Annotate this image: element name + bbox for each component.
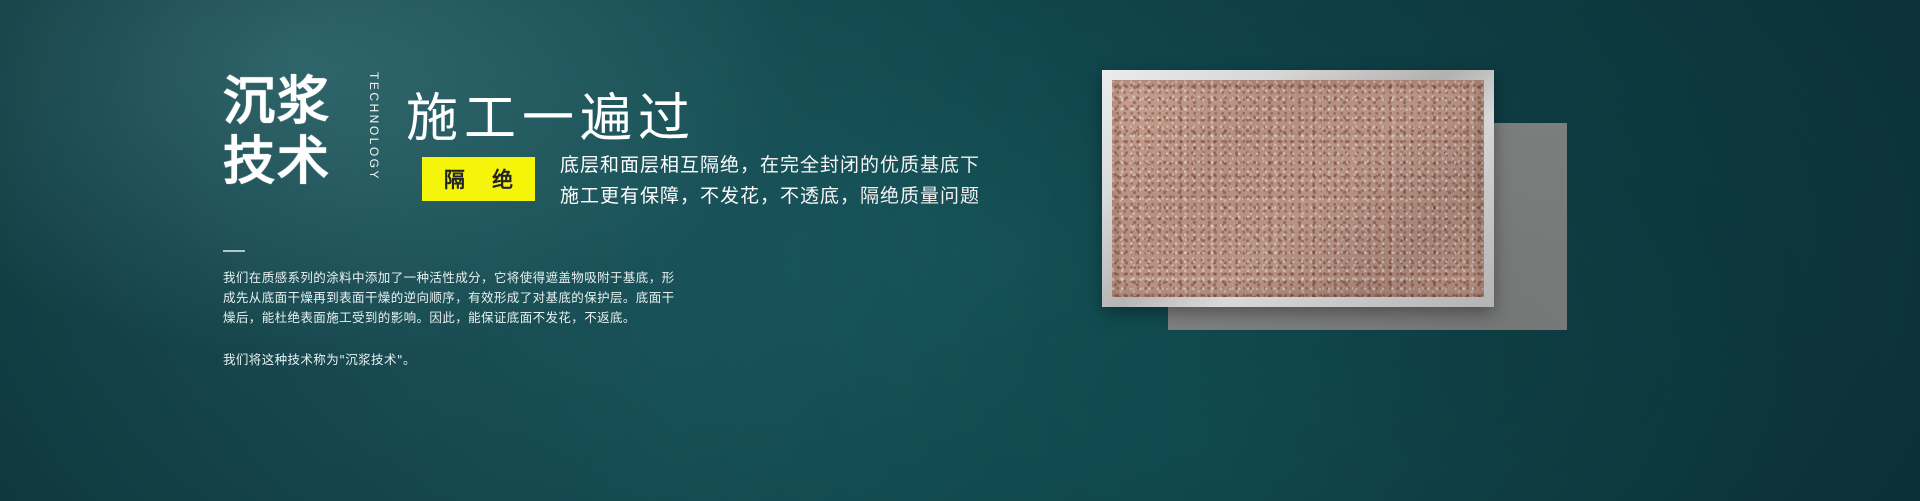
body-paragraph-1: 我们在质感系列的涂料中添加了一种活性成分，它将使得遮盖物吸附于基底，形成先从底面… — [223, 268, 683, 328]
brand-logo-line-1: 沉浆 — [223, 72, 358, 132]
brand-logo: 沉浆 技术 — [223, 72, 358, 197]
body-copy: 我们在质感系列的涂料中添加了一种活性成分，它将使得遮盖物吸附于基底，形成先从底面… — [223, 268, 683, 370]
brand-logo-vertical-text: TECHNOLOGY — [363, 72, 381, 181]
divider-dash — [223, 250, 245, 252]
promo-banner: 沉浆 技术 TECHNOLOGY 施工一遍过 隔 绝 底层和面层相互隔绝，在完全… — [0, 0, 1920, 501]
subtext-line-2: 施工更有保障，不发花，不透底，隔绝质量问题 — [560, 181, 980, 212]
stone-texture-image — [1112, 80, 1484, 297]
feature-tag: 隔 绝 — [422, 157, 535, 201]
feature-tag-label: 隔 绝 — [434, 164, 523, 194]
headline: 施工一遍过 — [406, 76, 696, 151]
body-paragraph-2: 我们将这种技术称为"沉浆技术"。 — [223, 350, 683, 370]
photo-frame — [1102, 70, 1494, 307]
brand-logo-line-2: 技术 — [223, 132, 358, 192]
subtext-line-1: 底层和面层相互隔绝，在完全封闭的优质基底下 — [560, 150, 980, 181]
subtext-block: 底层和面层相互隔绝，在完全封闭的优质基底下 施工更有保障，不发花，不透底，隔绝质… — [560, 150, 980, 212]
